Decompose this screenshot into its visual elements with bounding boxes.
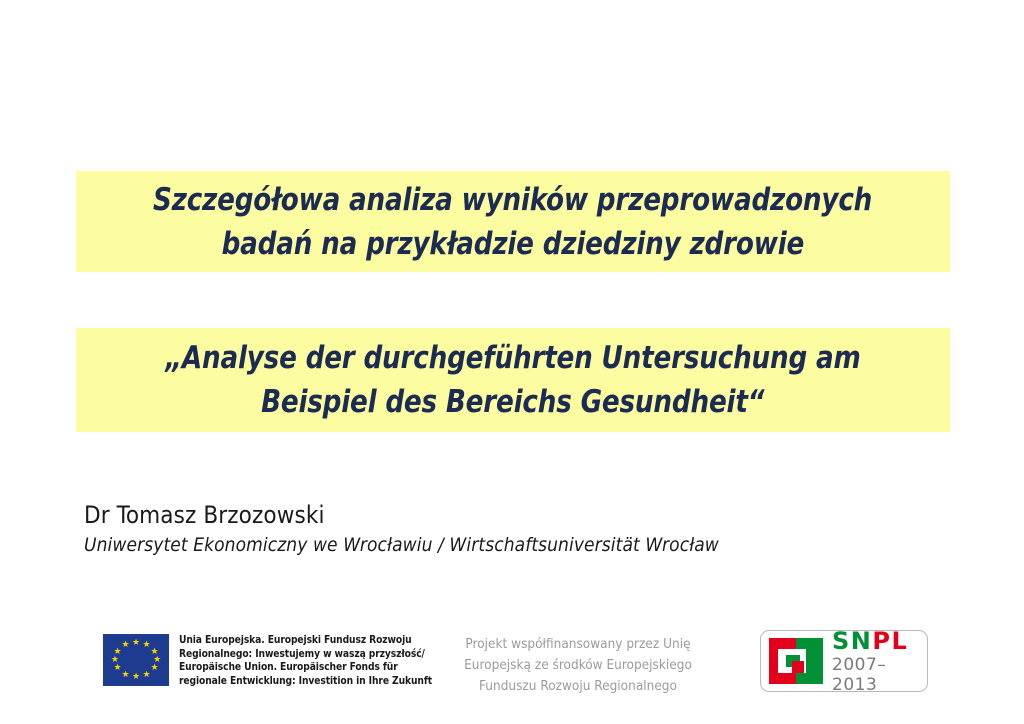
eu-funding-line-2: Regionalnego: Inwestujemy w waszą przysz… xyxy=(179,648,432,662)
eu-flag-icon xyxy=(103,634,169,686)
title-polish-line-1: Szczegółowa analiza wyników przeprowadzo… xyxy=(153,178,872,222)
title-band-polish: Szczegółowa analiza wyników przeprowadzo… xyxy=(76,171,950,272)
eu-logo-group: Unia Europejska. Europejski Fundusz Rozw… xyxy=(103,634,440,688)
author-name: Dr Tomasz Brzozowski xyxy=(84,500,904,530)
author-block: Dr Tomasz Brzozowski Uniwersytet Ekonomi… xyxy=(84,500,904,558)
eu-funding-line-1: Unia Europejska. Europejski Fundusz Rozw… xyxy=(179,634,432,648)
snpl-wordmark-pl: PL xyxy=(872,627,908,655)
footer-bar: Unia Europejska. Europejski Fundusz Rozw… xyxy=(0,620,1024,710)
project-funding-line-3: Funduszu Rozwoju Regionalnego xyxy=(428,676,728,697)
title-german-line-2: Beispiel des Bereichs Gesundheit“ xyxy=(261,380,764,424)
title-polish-line-2: badań na przykładzie dziedziny zdrowie xyxy=(222,222,805,266)
slide-canvas: Szczegółowa analiza wyników przeprowadzo… xyxy=(0,0,1024,724)
author-affiliation: Uniwersytet Ekonomiczny we Wrocławiu / W… xyxy=(84,532,904,558)
eu-funding-line-4: regionale Entwicklung: Investition in Ih… xyxy=(179,675,432,689)
eu-funding-line-3: Europäische Union. Europäischer Fonds fü… xyxy=(179,661,432,675)
snpl-interlock-icon xyxy=(769,638,823,684)
snpl-text-block: SNPL 2007–2013 xyxy=(832,628,927,695)
snpl-wordmark: SNPL xyxy=(832,628,927,654)
title-band-german: „Analyse der durchgeführten Untersuchung… xyxy=(76,328,950,432)
snpl-years: 2007–2013 xyxy=(832,655,927,695)
project-funding-line-1: Projekt współfinansowany przez Unię xyxy=(428,634,728,655)
snpl-logo: SNPL 2007–2013 xyxy=(760,630,928,692)
title-german-line-1: „Analyse der durchgeführten Untersuchung… xyxy=(165,336,860,380)
snpl-wordmark-sn: SN xyxy=(832,627,872,655)
project-funding-line-2: Europejską ze środków Europejskiego xyxy=(428,655,728,676)
eu-funding-text: Unia Europejska. Europejski Fundusz Rozw… xyxy=(179,634,432,688)
project-funding-text: Projekt współfinansowany przez Unię Euro… xyxy=(428,634,728,697)
